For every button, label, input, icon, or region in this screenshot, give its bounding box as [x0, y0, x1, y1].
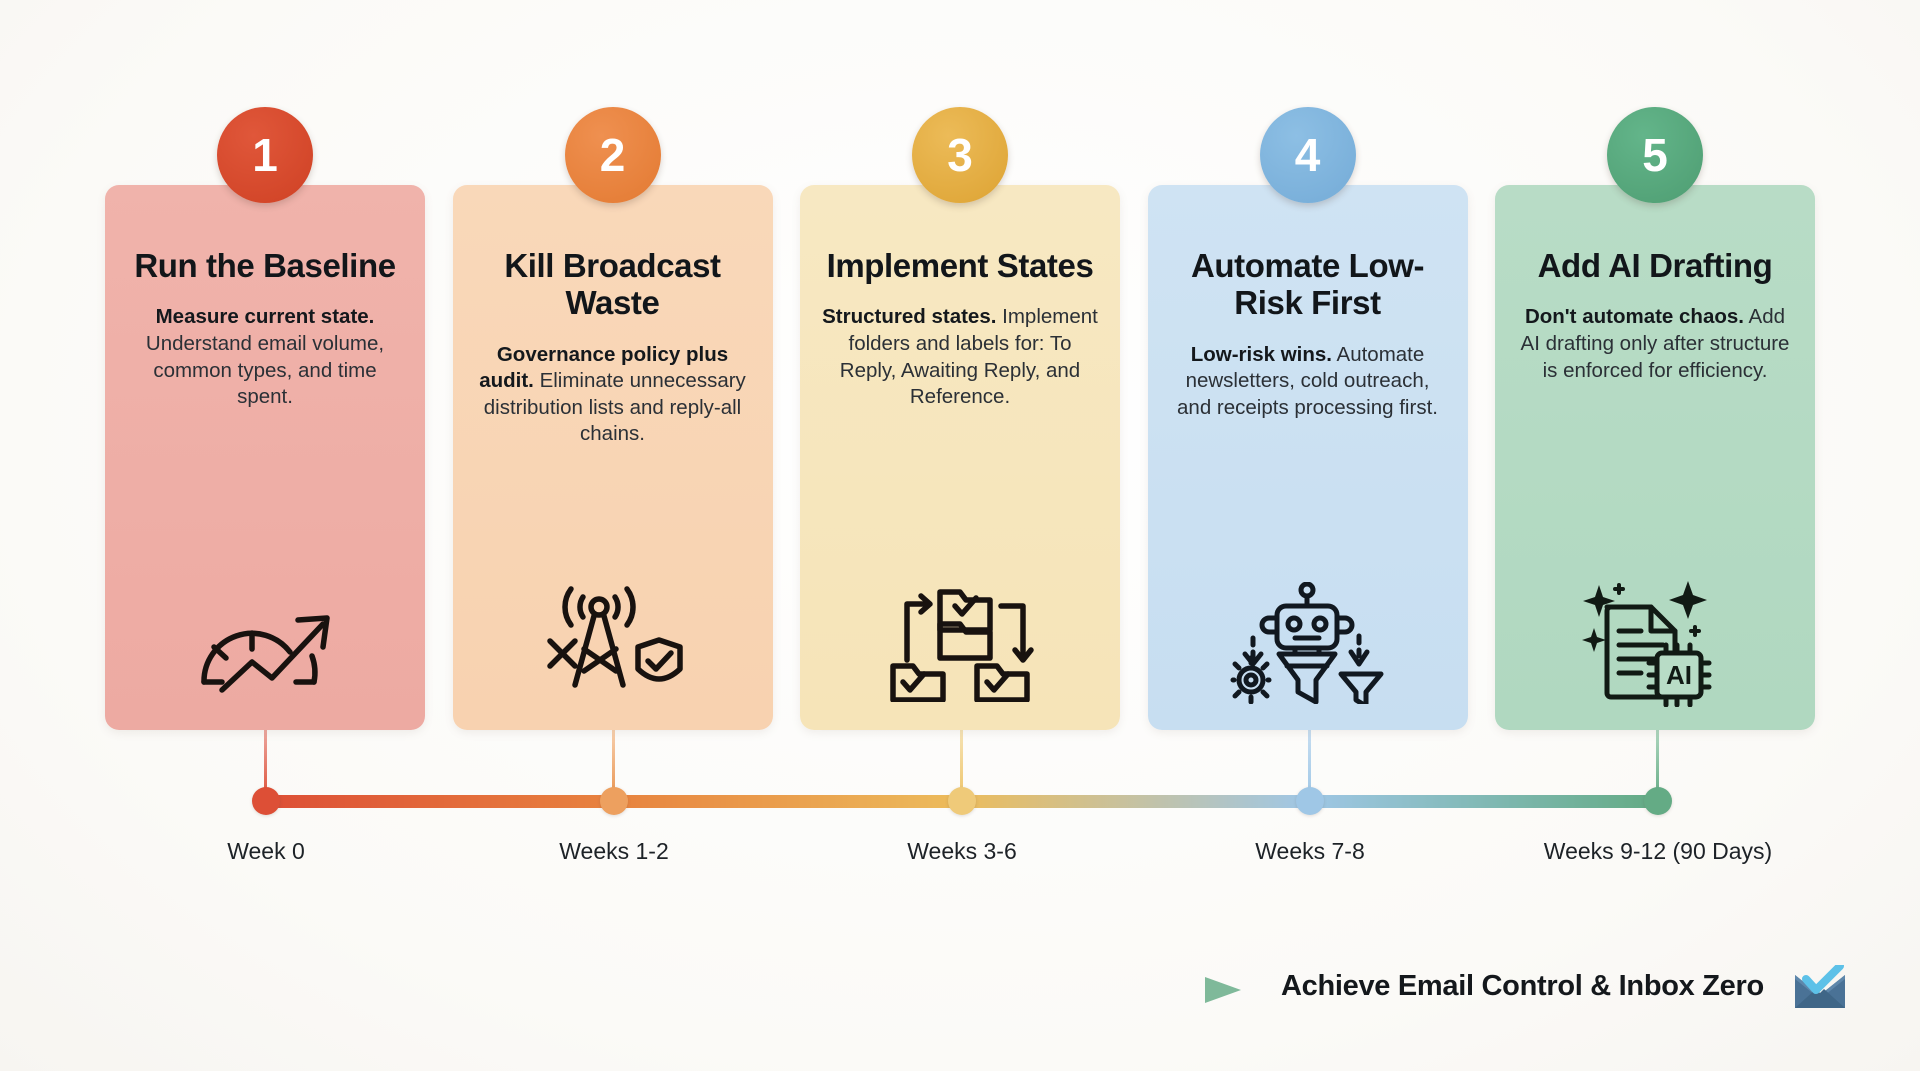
- broadcast-tower-block-icon: [453, 578, 773, 708]
- step-description-5: Don't automate chaos. Add AI drafting on…: [1516, 304, 1794, 384]
- infographic-canvas: 1 Run the Baseline Measure current state…: [0, 0, 1920, 1071]
- step-description-2: Governance policy plus audit. Eliminate …: [474, 342, 752, 449]
- step-description-lead-5: Don't automate chaos.: [1525, 305, 1744, 328]
- timeline-dot-2[interactable]: [600, 787, 628, 815]
- footer-tagline: Achieve Email Control & Inbox Zero: [1281, 970, 1764, 1003]
- step-card-1[interactable]: 1 Run the Baseline Measure current state…: [105, 185, 425, 730]
- step-number-badge-1: 1: [217, 107, 313, 203]
- gauge-trend-icon: [105, 578, 425, 708]
- step-description-lead-3: Structured states.: [822, 305, 996, 328]
- step-title-1: Run the Baseline: [134, 247, 395, 284]
- email-check-icon: [1792, 965, 1848, 1016]
- ai-document-icon: AI: [1495, 578, 1815, 708]
- step-description-lead-1: Measure current state.: [156, 305, 375, 328]
- step-title-5: Add AI Drafting: [1538, 247, 1773, 284]
- timeline-label-1: Week 0: [227, 838, 305, 865]
- right-arrow-icon: [105, 975, 1250, 1005]
- timeline-dot-4[interactable]: [1296, 787, 1324, 815]
- step-number-4: 4: [1295, 132, 1321, 178]
- step-number-3: 3: [947, 132, 973, 178]
- step-description-4: Low-risk wins. Automate newsletters, col…: [1169, 342, 1447, 422]
- timeline-dot-3[interactable]: [948, 787, 976, 815]
- step-card-3[interactable]: 3 Implement States Structured states. Im…: [800, 185, 1120, 730]
- step-title-3: Implement States: [827, 247, 1094, 284]
- robot-funnel-icon: [1148, 578, 1468, 708]
- step-description-3: Structured states. Implement folders and…: [821, 304, 1099, 411]
- timeline-dot-5[interactable]: [1644, 787, 1672, 815]
- step-number-5: 5: [1642, 132, 1668, 178]
- timeline-label-3: Weeks 3-6: [907, 838, 1017, 865]
- step-card-4[interactable]: 4 Automate Low-Risk First Low-risk wins.…: [1148, 185, 1468, 730]
- step-number-badge-4: 4: [1260, 107, 1356, 203]
- step-number-2: 2: [600, 132, 626, 178]
- step-description-body-1: Understand email volume, common types, a…: [146, 332, 384, 408]
- step-number-badge-3: 3: [912, 107, 1008, 203]
- step-number-1: 1: [252, 132, 278, 178]
- timeline-label-2: Weeks 1-2: [559, 838, 669, 865]
- step-card-list: 1 Run the Baseline Measure current state…: [105, 185, 1815, 730]
- svg-text:AI: AI: [1666, 660, 1692, 690]
- step-title-2: Kill Broadcast Waste: [473, 247, 753, 322]
- timeline-dot-1[interactable]: [252, 787, 280, 815]
- step-number-badge-2: 2: [565, 107, 661, 203]
- folder-workflow-icon: [800, 578, 1120, 708]
- timeline-label-4: Weeks 7-8: [1255, 838, 1365, 865]
- timeline-label-5: Weeks 9-12 (90 Days): [1544, 838, 1772, 865]
- step-number-badge-5: 5: [1607, 107, 1703, 203]
- step-description-1: Measure current state. Understand email …: [126, 304, 404, 411]
- step-card-5[interactable]: 5 Add AI Drafting Don't automate chaos. …: [1495, 185, 1815, 730]
- step-title-4: Automate Low-Risk First: [1168, 247, 1448, 322]
- step-description-lead-4: Low-risk wins.: [1191, 343, 1332, 366]
- step-card-2[interactable]: 2 Kill Broadcast Waste Governance policy…: [453, 185, 773, 730]
